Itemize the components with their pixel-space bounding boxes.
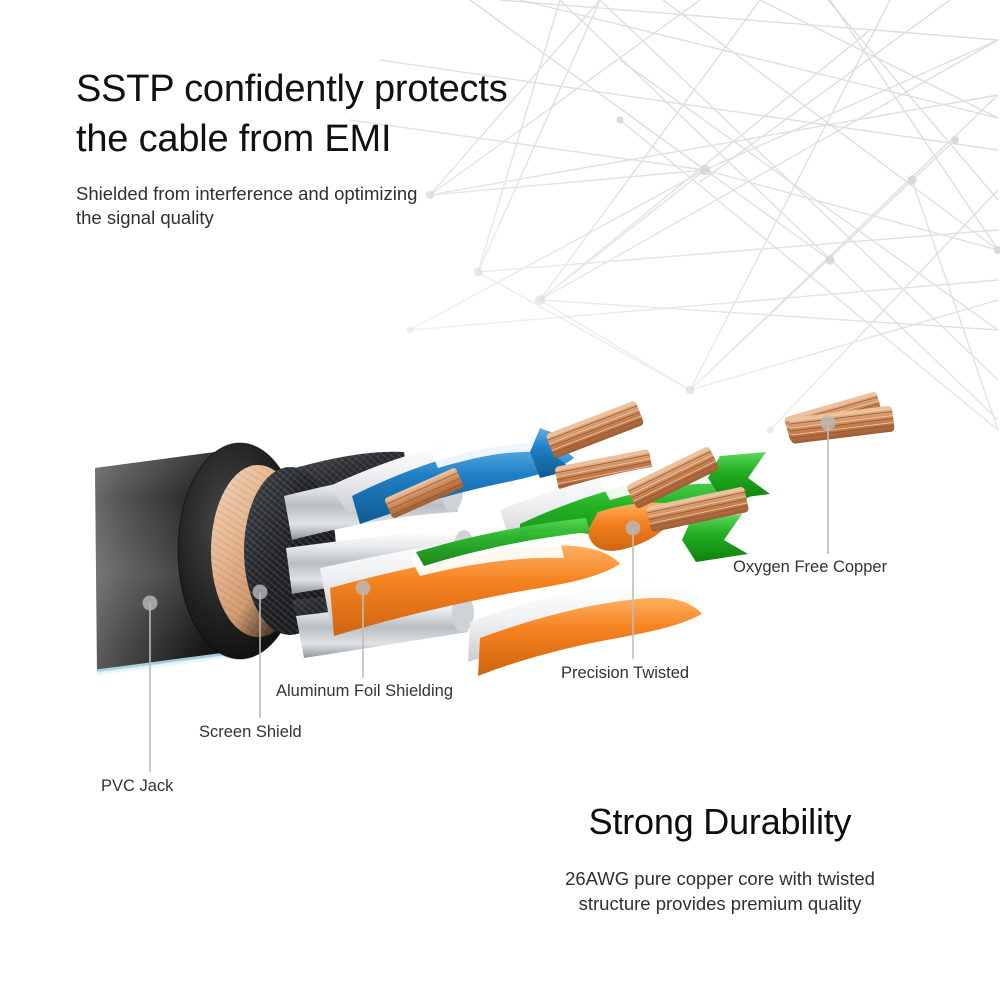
page-subtitle: Shielded from interference and optimizin…	[76, 182, 596, 230]
callout-label-aluminum-foil-shielding: Aluminum Foil Shielding	[276, 681, 453, 701]
callout-label-pvc-jack: PVC Jack	[101, 776, 173, 796]
callout-label-precision-twisted: Precision Twisted	[561, 663, 689, 683]
footer-subtitle: 26AWG pure copper core with twisted stru…	[500, 866, 940, 916]
infographic-page: SSTP confidently protects the cable from…	[0, 0, 1000, 1001]
cable-cutaway-illustration	[0, 300, 1000, 720]
callout-label-oxygen-free-copper: Oxygen Free Copper	[733, 557, 887, 577]
footer-title: Strong Durability	[500, 800, 940, 844]
page-title: SSTP confidently protects the cable from…	[76, 64, 696, 164]
callout-label-screen-shield: Screen Shield	[199, 722, 302, 742]
